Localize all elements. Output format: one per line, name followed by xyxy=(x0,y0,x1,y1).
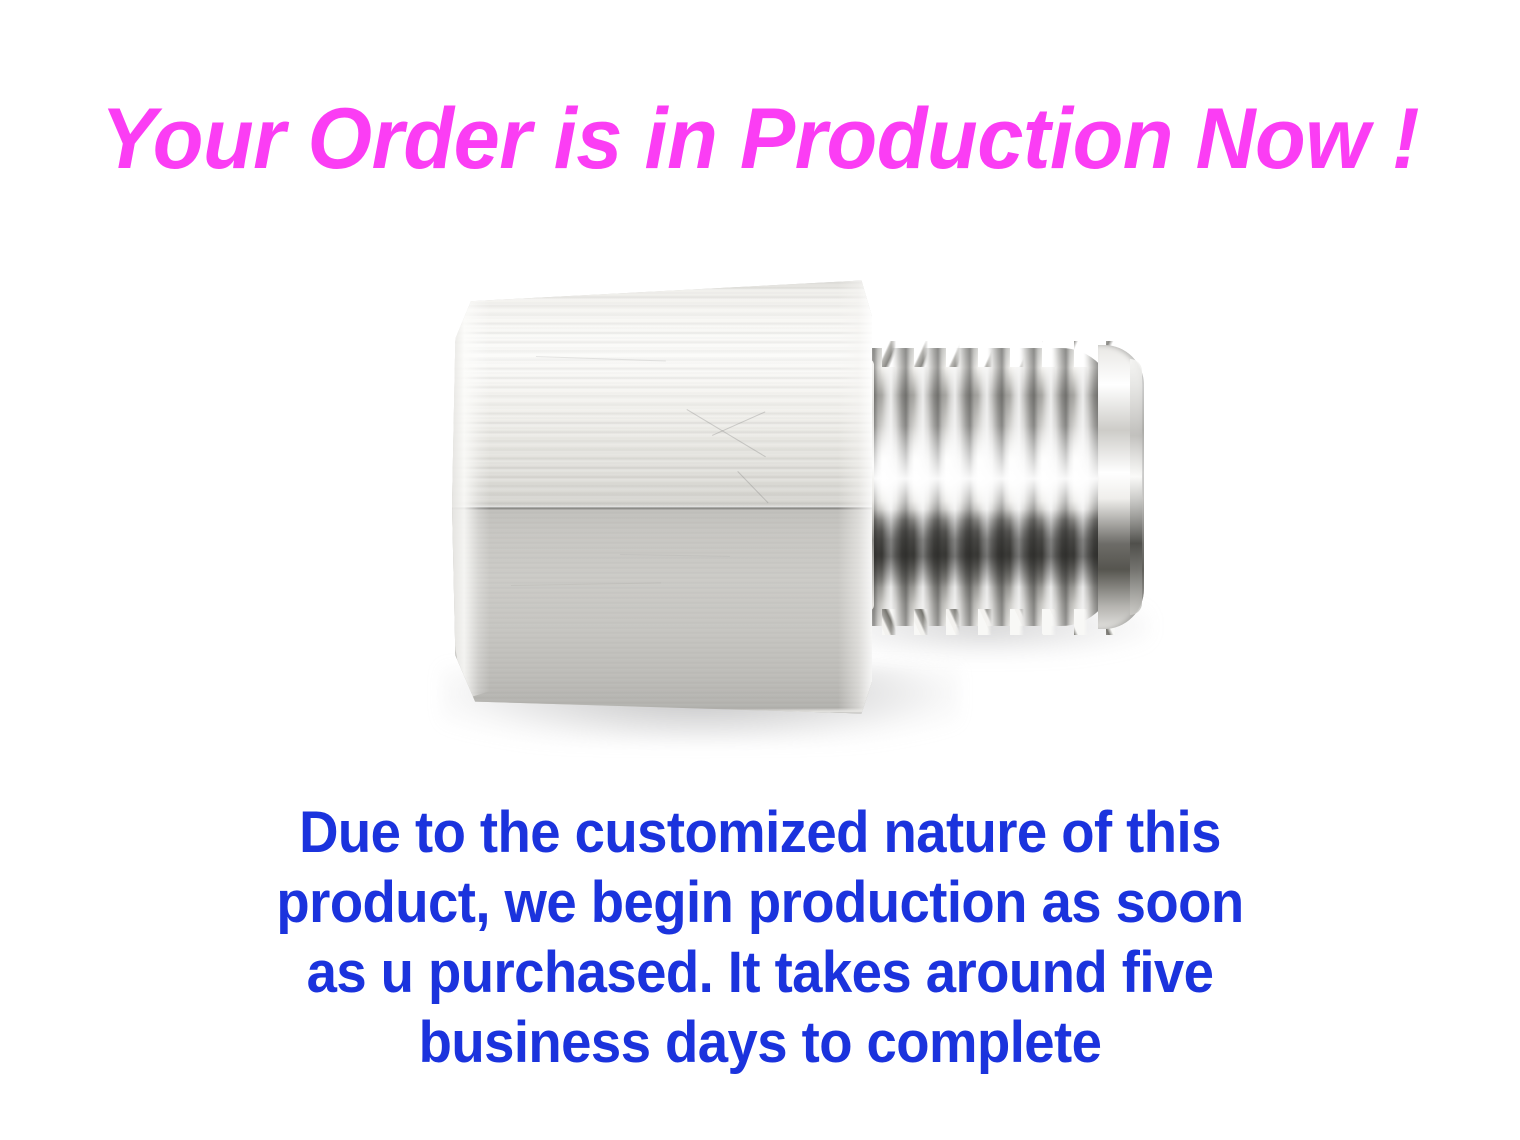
page-title: Your Order is in Production Now ! xyxy=(27,96,1494,182)
body-copy-line: Due to the customized nature of this xyxy=(46,798,1475,868)
hex-machining-marks xyxy=(452,277,872,717)
thread-crest-top xyxy=(850,341,1115,367)
hex-face-parting-line xyxy=(452,506,872,510)
thread-crest-bottom xyxy=(850,609,1115,635)
body-copy: Due to the customized nature of this pro… xyxy=(46,798,1475,1078)
hex-chamfer-left xyxy=(452,295,490,700)
promo-banner: Your Order is in Production Now ! xyxy=(0,0,1520,1140)
thread-ridges-fine xyxy=(850,348,1115,626)
hex-silhouette xyxy=(452,277,872,717)
product-image xyxy=(380,235,1200,795)
hex-chamfer-right xyxy=(838,281,872,712)
body-copy-line: product, we begin production as soon xyxy=(46,868,1475,938)
body-copy-line: as u purchased. It takes around five xyxy=(46,938,1475,1008)
thread-end-cap-edge xyxy=(1130,359,1142,615)
hex-rim-bottom xyxy=(465,708,864,717)
thread-barrel xyxy=(850,348,1115,626)
hex-body xyxy=(452,277,872,717)
threaded-end xyxy=(850,343,1140,633)
body-copy-line: business days to complete xyxy=(46,1008,1475,1078)
